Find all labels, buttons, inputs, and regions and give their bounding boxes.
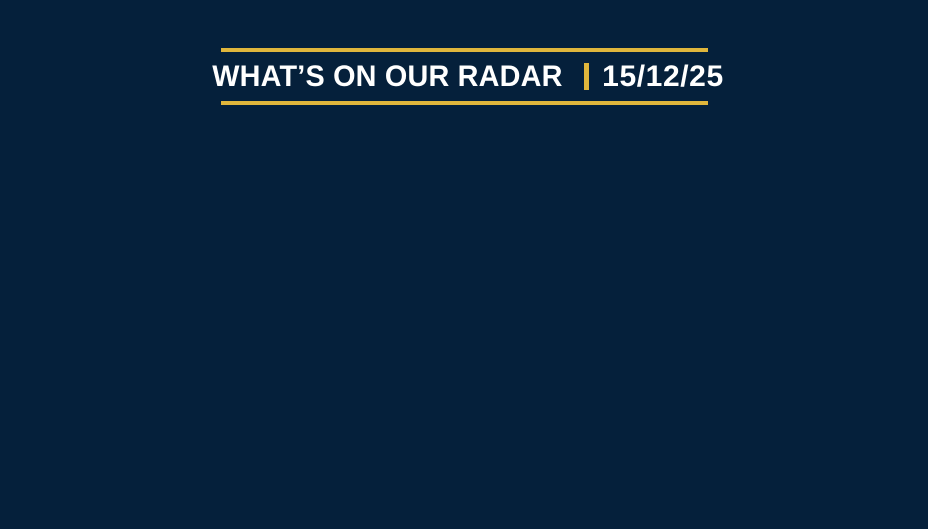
header-rule-bottom [221, 101, 708, 105]
slide-body-area [0, 110, 928, 529]
header-date: 15/12/25 [602, 62, 724, 92]
header-banner: WHAT’S ON OUR RADAR 15/12/25 [221, 48, 708, 105]
slide-canvas: WHAT’S ON OUR RADAR 15/12/25 [0, 0, 928, 529]
vertical-bar-icon [584, 63, 589, 90]
page-title: WHAT’S ON OUR RADAR [213, 62, 563, 92]
header-content-row: WHAT’S ON OUR RADAR 15/12/25 [221, 52, 708, 101]
